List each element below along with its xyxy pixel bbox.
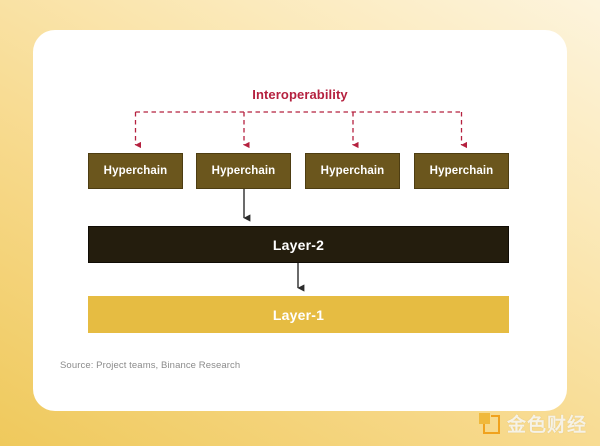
- layer-1-label: Layer-1: [273, 307, 324, 323]
- golden-finance-logo-icon: [479, 413, 500, 434]
- hyperchain-box-label: Hyperchain: [212, 165, 276, 177]
- layer-2-label: Layer-2: [273, 237, 324, 253]
- hyperchain-box-2[interactable]: Hyperchain: [196, 153, 291, 189]
- diagram-card: Interoperability Hyperchain Hyperchain H…: [33, 30, 567, 411]
- hyperchain-box-4[interactable]: Hyperchain: [414, 153, 509, 189]
- watermark: 金色财经: [479, 410, 587, 437]
- layer-2-bar[interactable]: Layer-2: [88, 226, 509, 263]
- watermark-text: 金色财经: [507, 410, 587, 437]
- layer-1-bar[interactable]: Layer-1: [88, 296, 509, 333]
- hyperchain-box-label: Hyperchain: [104, 165, 168, 177]
- source-note: Source: Project teams, Binance Research: [60, 360, 240, 371]
- hyperchain-box-label: Hyperchain: [430, 165, 494, 177]
- architecture-diagram: Interoperability Hyperchain Hyperchain H…: [33, 30, 567, 411]
- hyperchain-box-label: Hyperchain: [321, 165, 385, 177]
- interoperability-label: Interoperability: [33, 87, 567, 102]
- hyperchain-box-3[interactable]: Hyperchain: [305, 153, 400, 189]
- hyperchain-box-1[interactable]: Hyperchain: [88, 153, 183, 189]
